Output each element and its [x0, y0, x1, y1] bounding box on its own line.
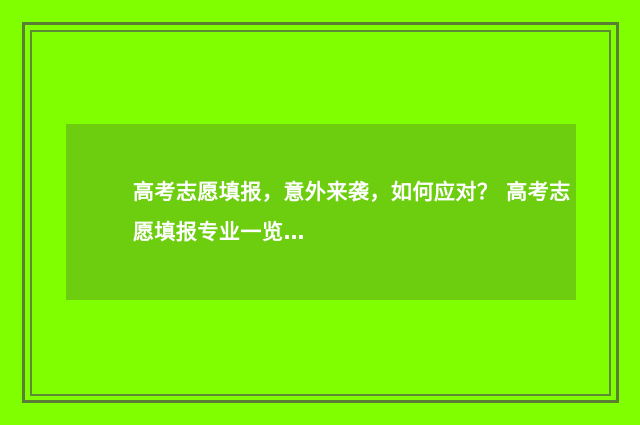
- content-panel: 高考志愿填报，意外来袭，如何应对？ 高考志愿填报专业一览…: [66, 124, 576, 300]
- headline-text: 高考志愿填报，意外来袭，如何应对？ 高考志愿填报专业一览…: [133, 172, 573, 252]
- image-canvas: 高考志愿填报，意外来袭，如何应对？ 高考志愿填报专业一览…: [0, 0, 640, 425]
